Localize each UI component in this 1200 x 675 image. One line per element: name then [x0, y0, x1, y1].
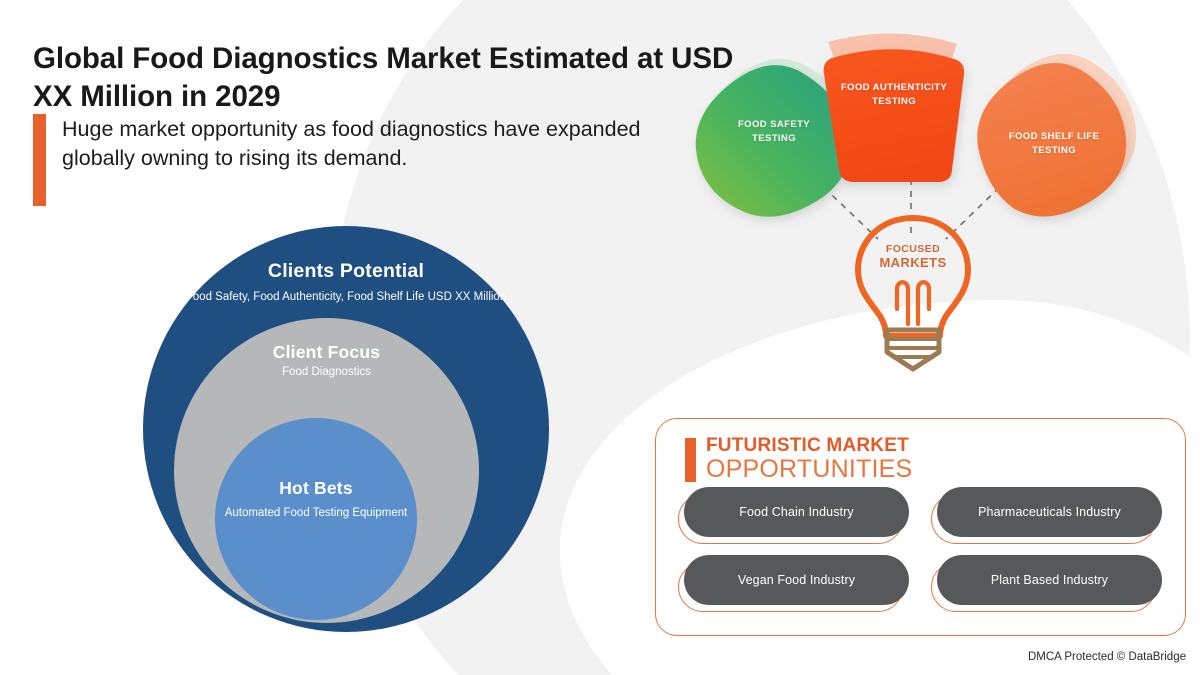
circle-outer-title: Clients Potential	[143, 260, 549, 283]
focused-markets-lightbulb: FOCUSED MARKETS	[845, 212, 981, 374]
accent-bar	[33, 114, 46, 206]
opportunity-pill-grid: Food Chain Industry Pharmaceuticals Indu…	[684, 487, 1162, 605]
pill-wrap-pharmaceuticals: Pharmaceuticals Industry	[937, 487, 1162, 537]
infographic-canvas: Global Food Diagnostics Market Estimated…	[0, 0, 1200, 675]
circle-inner-title: Hot Bets	[215, 478, 417, 499]
concentric-circles-diagram: Clients Potential Food Safety, Food Auth…	[143, 226, 549, 632]
circle-inner-subtitle: Automated Food Testing Equipment	[215, 506, 417, 521]
circle-middle-subtitle: Food Diagnostics	[174, 365, 479, 380]
petal-label-food-authenticity: FOOD AUTHENTICITYTESTING	[814, 81, 974, 108]
pill-food-chain-industry[interactable]: Food Chain Industry	[684, 487, 909, 537]
pill-pharmaceuticals-industry[interactable]: Pharmaceuticals Industry	[937, 487, 1162, 537]
page-subtitle: Huge market opportunity as food diagnost…	[62, 114, 653, 206]
petal-label-food-safety: FOOD SAFETYTESTING	[694, 118, 854, 145]
petal-label-food-shelf-life: FOOD SHELF LIFETESTING	[974, 130, 1134, 157]
footer-copyright: DMCA Protected © DataBridge	[1028, 651, 1186, 663]
subtitle-block: Huge market opportunity as food diagnost…	[33, 114, 653, 206]
pill-wrap-plant-based: Plant Based Industry	[937, 555, 1162, 605]
futuristic-heading-line2: OPPORTUNITIES	[706, 456, 912, 482]
page-title: Global Food Diagnostics Market Estimated…	[33, 40, 753, 116]
circle-middle-title: Client Focus	[174, 342, 479, 363]
futuristic-market-card: FUTURISTIC MARKET OPPORTUNITIES Food Cha…	[655, 418, 1186, 636]
pill-plant-based-industry[interactable]: Plant Based Industry	[937, 555, 1162, 605]
circle-outer-subtitle: Food Safety, Food Authenticity, Food She…	[143, 290, 549, 305]
circle-hot-bets: Hot Bets Automated Food Testing Equipmen…	[215, 418, 417, 620]
pill-wrap-vegan-food: Vegan Food Industry	[684, 555, 909, 605]
pill-wrap-food-chain: Food Chain Industry	[684, 487, 909, 537]
pill-vegan-food-industry[interactable]: Vegan Food Industry	[684, 555, 909, 605]
petal-food-authenticity	[824, 49, 964, 182]
lightbulb-icon	[845, 212, 981, 374]
futuristic-accent-bar	[685, 438, 696, 482]
futuristic-heading-line1: FUTURISTIC MARKET	[706, 436, 912, 456]
futuristic-market-heading: FUTURISTIC MARKET OPPORTUNITIES	[685, 436, 912, 482]
